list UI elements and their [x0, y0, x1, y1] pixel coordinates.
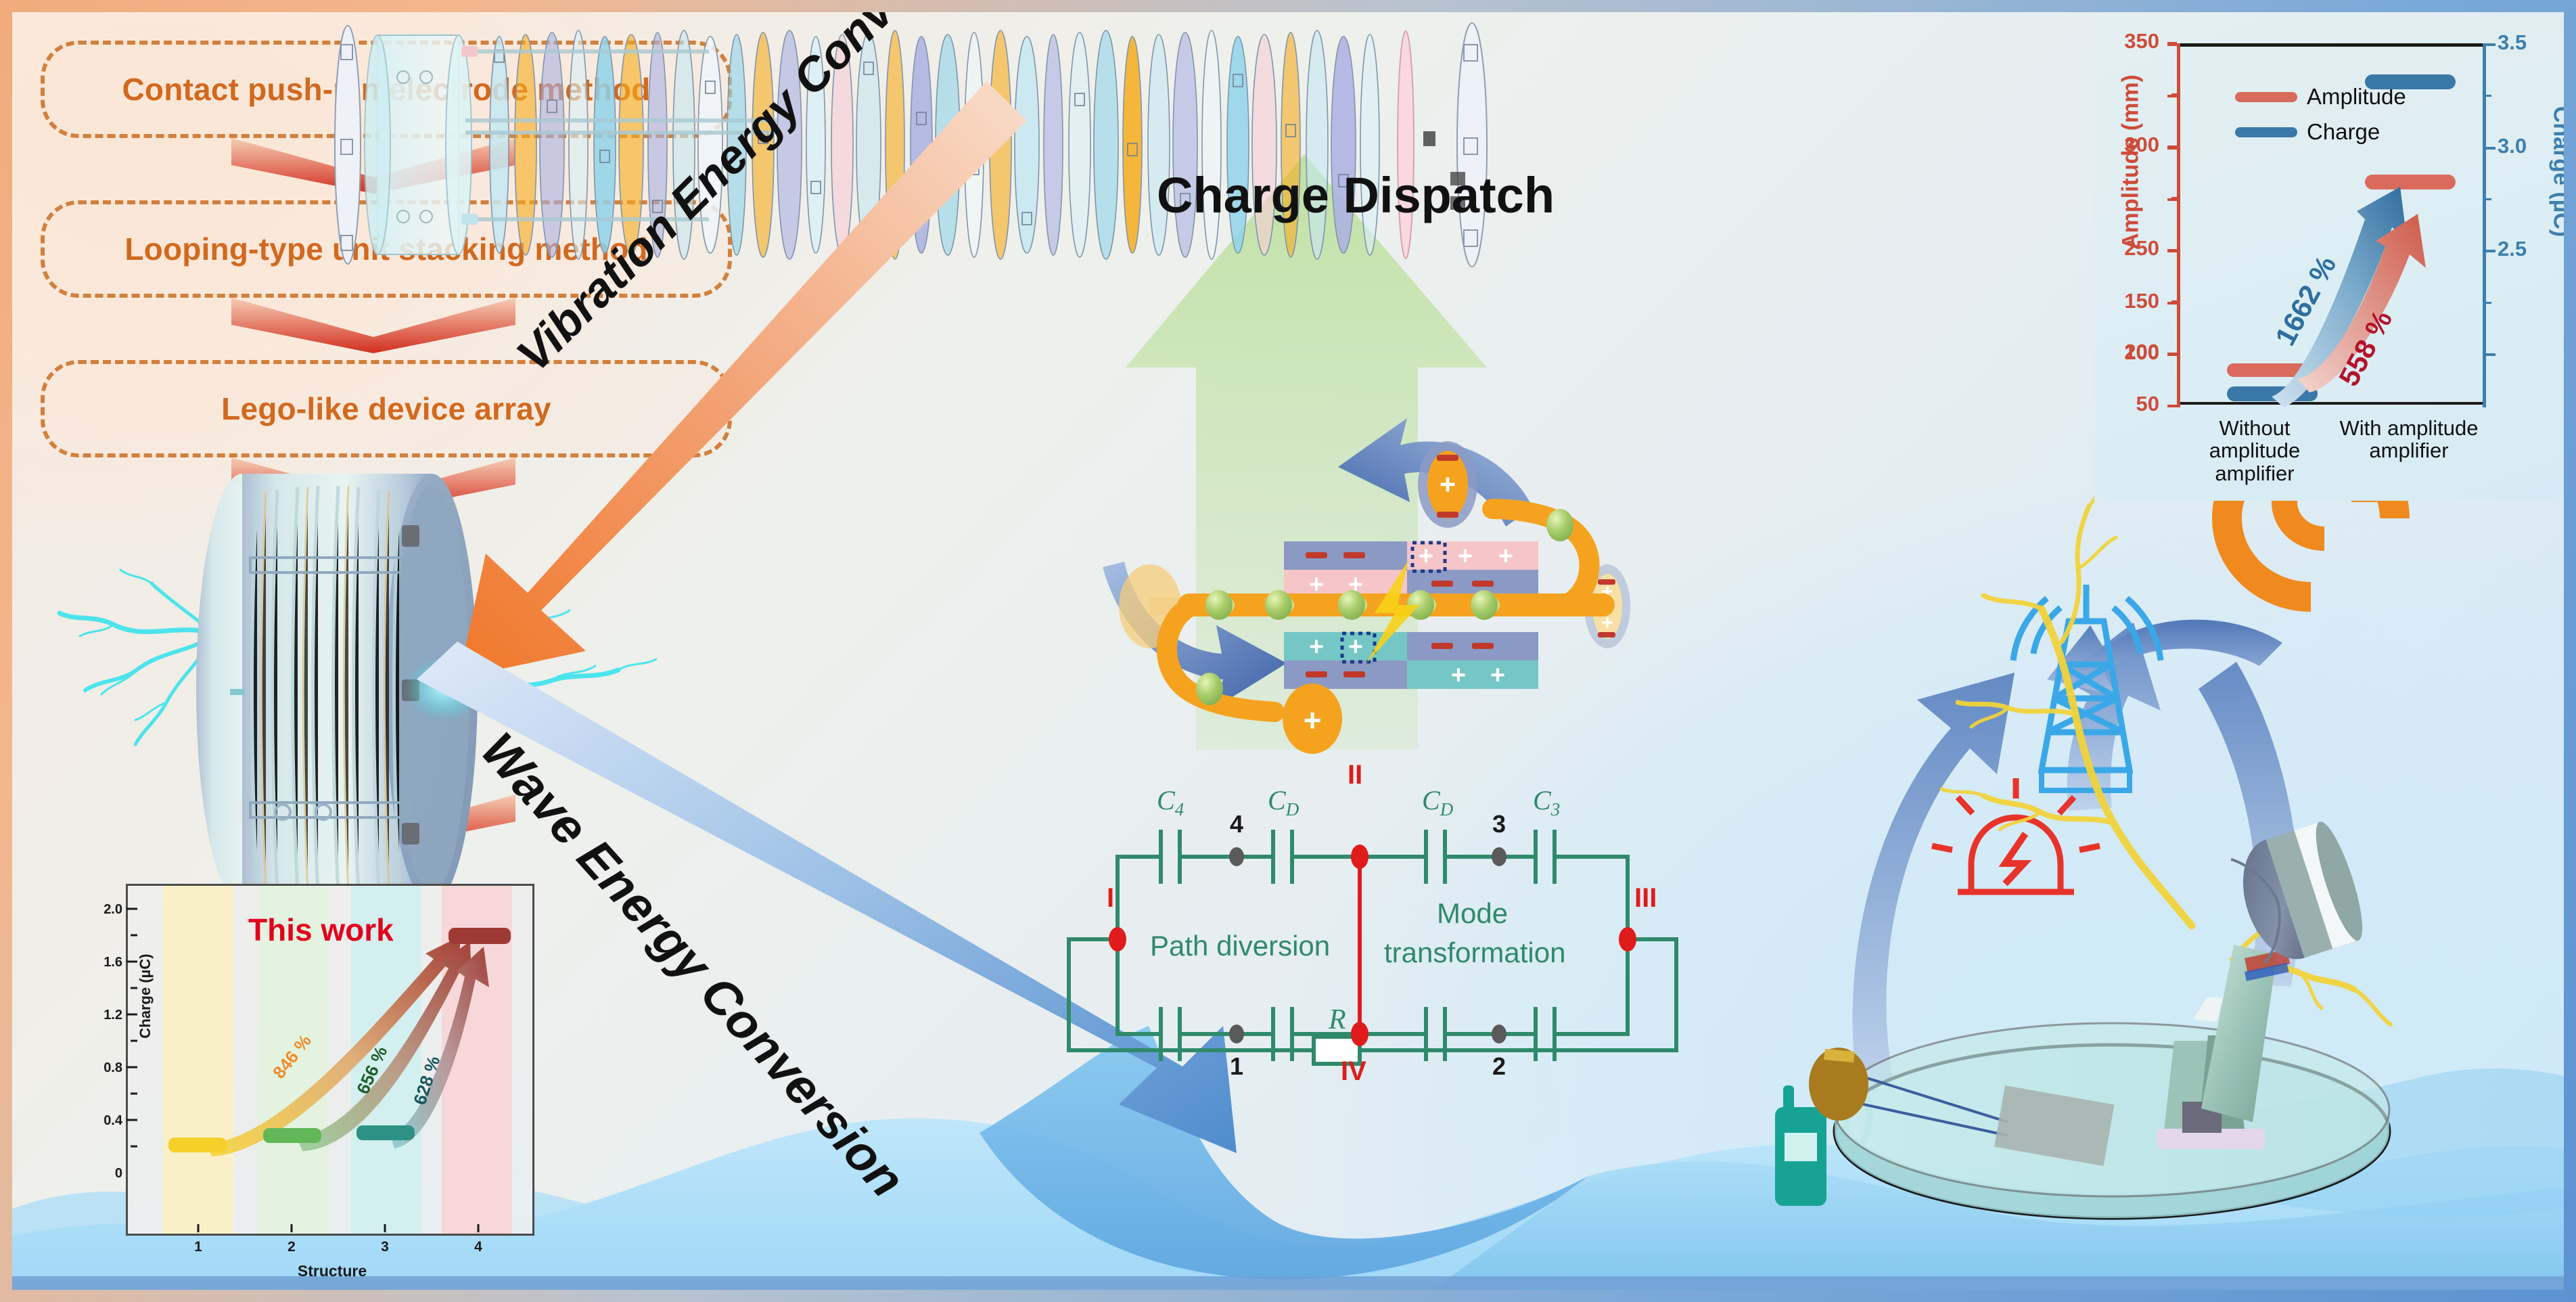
- svg-text:+: +: [1348, 570, 1363, 599]
- figure-root: Contact push-pin electrode method Loopin…: [0, 0, 2576, 1302]
- this-work-label: This work: [248, 912, 394, 948]
- bl-bar-2: [263, 1128, 321, 1143]
- chevron-arrow-3: [231, 455, 515, 513]
- ion-plus-bottom: +: [1304, 702, 1322, 738]
- svg-text:II: II: [1348, 760, 1362, 790]
- svg-text:Path diversion: Path diversion: [1150, 930, 1330, 962]
- svg-text:+: +: [1458, 542, 1473, 570]
- svg-text:+: +: [1601, 581, 1613, 603]
- chart-amplifier-comparison: 350 300 250 200 150 150 150 1: [2094, 16, 2564, 501]
- svg-text:+: +: [1498, 542, 1513, 570]
- svg-text:4: 4: [1230, 810, 1243, 838]
- svg-text:+: +: [1419, 542, 1433, 570]
- chevron-arrow-1: [231, 135, 515, 194]
- svg-text:CD: CD: [1157, 1076, 1189, 1080]
- bl-x-tick-marks: [128, 1224, 536, 1235]
- chevron-arrow-2: [231, 295, 515, 353]
- svg-text:CD: CD: [1268, 785, 1299, 820]
- svg-text:R: R: [1328, 1004, 1346, 1035]
- equivalent-circuit-diagram: C4 CD CD C3 CD C1 C2 CD: [1042, 742, 1725, 1080]
- svg-text:C4: C4: [1157, 785, 1184, 820]
- svg-text:III: III: [1634, 883, 1657, 913]
- svg-text:IV: IV: [1341, 1056, 1366, 1080]
- svg-text:+: +: [1309, 570, 1324, 599]
- svg-text:C1: C1: [1268, 1076, 1295, 1080]
- svg-text:3: 3: [1492, 810, 1506, 838]
- svg-text:1: 1: [1230, 1052, 1243, 1080]
- svg-text:CD: CD: [1533, 1076, 1565, 1080]
- svg-text:+: +: [1601, 612, 1613, 634]
- bl-bar-1: [168, 1138, 227, 1152]
- alarm-lamp-icon: [1932, 778, 2100, 892]
- ion-plus-top: +: [1440, 468, 1456, 500]
- method-label-1: Contact push-pin electrode method: [122, 71, 651, 108]
- svg-text:+: +: [1451, 661, 1466, 690]
- method-box-1[interactable]: Contact push-pin electrode method: [41, 41, 732, 138]
- svg-text:CD: CD: [1422, 785, 1454, 820]
- signal-tower-icon: [2042, 585, 2130, 790]
- svg-text:+: +: [1348, 633, 1363, 661]
- method-label-2: Looping-type unit stacking method: [124, 231, 647, 267]
- xtick-with-amplifier: With amplitude amplifier: [2331, 417, 2487, 462]
- bl-x-axis-label: Structure: [264, 1262, 400, 1280]
- bl-xtick-1: 1: [185, 1239, 212, 1255]
- method-label-3: Lego-like device array: [221, 390, 551, 427]
- xtick-without-amplifier: Without amplitude amplifier: [2177, 417, 2332, 485]
- svg-text:Mode: Mode: [1437, 897, 1508, 929]
- svg-text:+: +: [1309, 633, 1324, 661]
- bl-bar-3: [356, 1125, 415, 1140]
- bl-bar-4: [448, 928, 511, 944]
- svg-text:+: +: [1490, 661, 1505, 690]
- bl-xtick-2: 2: [278, 1239, 305, 1255]
- chart-structure-charge: 2.0 1.6 1.2 0.8 0.4 0 Charge (µC): [126, 884, 534, 1236]
- bl-xtick-3: 3: [371, 1239, 398, 1255]
- svg-text:C3: C3: [1533, 785, 1560, 820]
- svg-text:C2: C2: [1422, 1076, 1449, 1080]
- svg-text:2: 2: [1492, 1052, 1506, 1080]
- figure-canvas: Contact push-pin electrode method Loopin…: [12, 12, 2564, 1290]
- charge-dispatch-title: Charge Dispatch: [1157, 166, 1555, 224]
- svg-text:transformation: transformation: [1384, 937, 1565, 968]
- bl-xtick-4: 4: [465, 1239, 492, 1255]
- chevron-arrow-4: [231, 792, 515, 850]
- svg-text:I: I: [1107, 883, 1114, 913]
- method-box-3[interactable]: Lego-like device array: [41, 360, 732, 457]
